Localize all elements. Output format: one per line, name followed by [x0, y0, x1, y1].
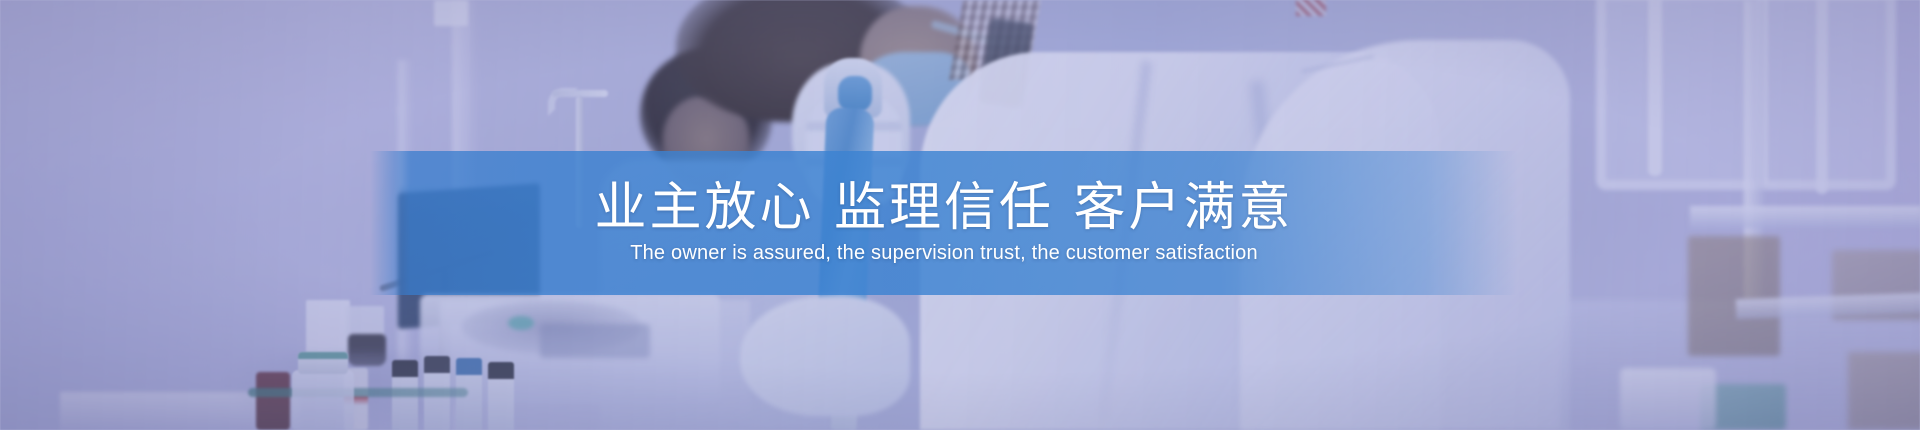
banner-headline: 业主放心 监理信任 客户满意: [594, 181, 1293, 236]
hero-banner: 业主放心 监理信任 客户满意 The owner is assured, the…: [0, 0, 1920, 430]
caption-band: 业主放心 监理信任 客户满意 The owner is assured, the…: [370, 151, 1518, 295]
banner-subheadline: The owner is assured, the supervision tr…: [630, 241, 1258, 265]
